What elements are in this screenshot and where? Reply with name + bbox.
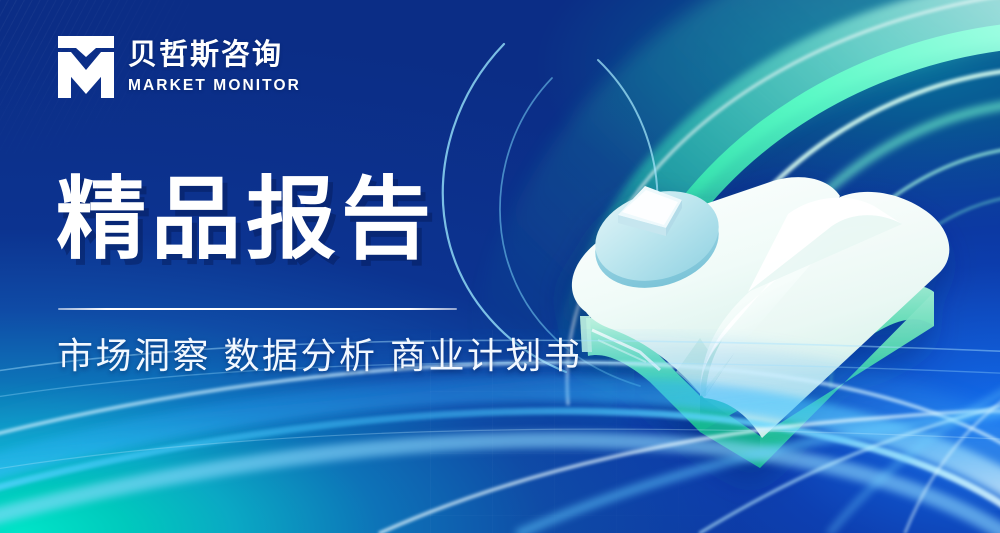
logo-company-name-en: MARKET MONITOR — [128, 78, 301, 94]
page-subtitle: 市场洞察 数据分析 商业计划书 — [57, 334, 583, 377]
report-banner: 贝哲斯咨询 MARKET MONITOR 精品报告 市场洞察 数据分析 商业计划… — [0, 0, 1000, 533]
page-title: 精品报告 — [56, 175, 436, 265]
logo-text-block: 贝哲斯咨询 MARKET MONITOR — [128, 40, 301, 94]
market-monitor-m-monogram-icon — [58, 36, 114, 98]
title-divider — [58, 308, 457, 310]
brand-logo[interactable]: 贝哲斯咨询 MARKET MONITOR — [58, 36, 301, 98]
logo-company-name-cn: 贝哲斯咨询 — [128, 40, 301, 71]
